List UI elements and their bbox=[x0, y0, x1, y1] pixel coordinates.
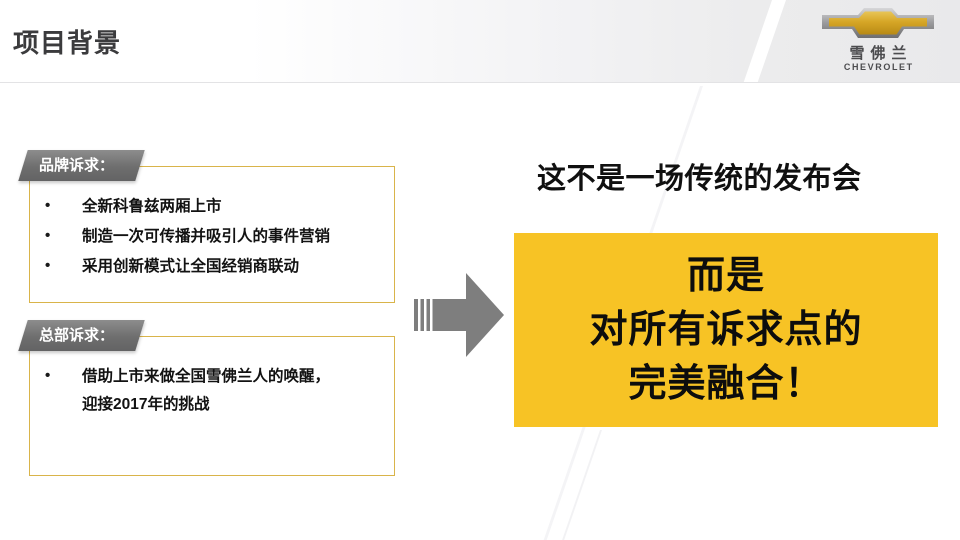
list-item: 制造一次可传播并吸引人的事件营销 bbox=[42, 223, 392, 250]
logo-brand-en: CHEVROLET bbox=[812, 62, 944, 73]
list-item: 全新科鲁兹两厢上市 bbox=[42, 193, 392, 220]
logo-brand-cn: 雪佛兰 bbox=[812, 45, 944, 62]
chevrolet-bowtie-icon bbox=[818, 6, 938, 44]
callout-line-2: 对所有诉求点的 bbox=[589, 303, 862, 357]
right-arrow-icon bbox=[408, 265, 508, 365]
page-title: 项目背景 bbox=[13, 23, 121, 60]
callout-line-3: 完美融合！ bbox=[628, 357, 823, 411]
right-heading: 这不是一场传统的发布会 bbox=[537, 155, 862, 197]
header-diagonal-slash-icon bbox=[743, 0, 786, 83]
header-divider bbox=[0, 82, 960, 83]
brand-appeal-bullet-list: 全新科鲁兹两厢上市 制造一次可传播并吸引人的事件营销 采用创新模式让全国经销商联… bbox=[42, 193, 392, 283]
background-diagonal-lower-icon bbox=[531, 430, 960, 540]
list-item: 借助上市来做全国雪佛兰人的唤醒， 迎接2017年的挑战 bbox=[42, 363, 392, 419]
hq-appeal-tag-label: 总部诉求： bbox=[39, 320, 114, 351]
hq-appeal-tag: 总部诉求： bbox=[18, 320, 144, 351]
callout-box: 而是 对所有诉求点的 完美融合！ bbox=[514, 233, 938, 427]
brand-appeal-tag-label: 品牌诉求： bbox=[39, 150, 114, 181]
hq-appeal-bullet-list: 借助上市来做全国雪佛兰人的唤醒， 迎接2017年的挑战 bbox=[42, 363, 392, 422]
list-item: 采用创新模式让全国经销商联动 bbox=[42, 253, 392, 280]
slide-canvas: 项目背景 雪佛兰 CHEVROLET bbox=[0, 0, 960, 540]
chevrolet-logo: 雪佛兰 CHEVROLET bbox=[812, 6, 944, 76]
callout-line-1: 而是 bbox=[687, 249, 765, 303]
brand-appeal-tag: 品牌诉求： bbox=[18, 150, 144, 181]
